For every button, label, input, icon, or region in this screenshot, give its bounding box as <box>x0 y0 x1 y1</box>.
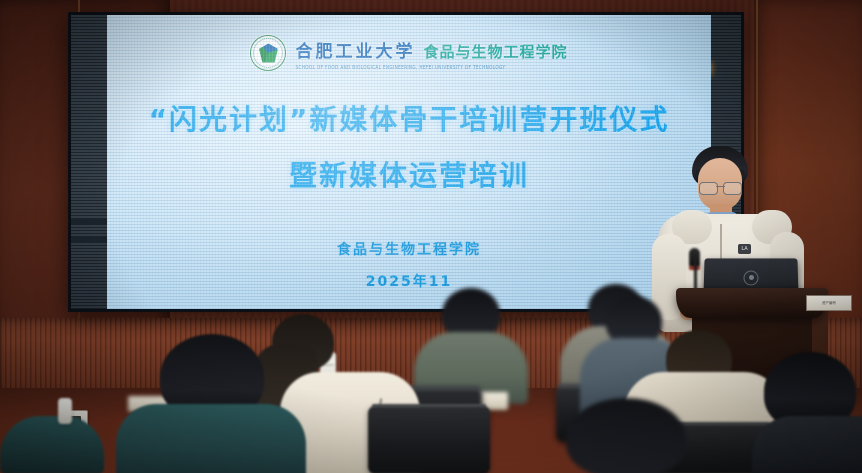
slide-title-line-2: 暨新媒体运营培训 <box>107 159 711 193</box>
school-name-cn: 食品与生物工程学院 <box>423 41 567 62</box>
attendee-far-left <box>0 398 110 473</box>
glasses-bridge <box>716 186 725 187</box>
chair-top-bar <box>372 404 486 408</box>
university-name-cn: 合肥工业大学 <box>295 37 415 62</box>
slide-organizer: 食品与生物工程学院 <box>107 239 711 259</box>
institution-name-en: SCHOOL OF FOOD AND BIOLOGICAL ENGINEERIN… <box>295 64 567 70</box>
attendee-front-left <box>116 334 312 473</box>
slide-logo-header: 合肥工业大学 食品与生物工程学院 SCHOOL OF FOOD AND BIOL… <box>107 29 711 77</box>
attendee-front-right <box>752 352 862 473</box>
attendee-torso <box>0 416 104 473</box>
led-wall-display[interactable]: 合肥工业大学 食品与生物工程学院 SCHOOL OF FOOD AND BIOL… <box>68 12 744 312</box>
jacket-badge: LA <box>738 244 751 254</box>
eyeglasses-icon <box>699 182 742 193</box>
attendee-head <box>566 398 686 473</box>
audience-chair <box>368 406 490 473</box>
bezel-seam <box>71 219 107 225</box>
university-crest-icon <box>250 35 286 71</box>
slide-text-body: “闪光计划”新媒体骨干培训营开班仪式 暨新媒体运营培训 食品与生物工程学院 20… <box>107 87 711 291</box>
logo-text-block: 合肥工业大学 食品与生物工程学院 SCHOOL OF FOOD AND BIOL… <box>295 37 567 69</box>
attendee-front-center <box>556 398 706 473</box>
logo-title-row: 合肥工业大学 食品与生物工程学院 <box>295 37 567 62</box>
desk-cup <box>58 398 72 424</box>
slide-surface: 合肥工业大学 食品与生物工程学院 SCHOOL OF FOOD AND BIOL… <box>107 15 711 309</box>
attendee-torso <box>752 416 862 473</box>
attendee-torso <box>116 404 306 473</box>
crest-ring <box>253 38 283 68</box>
slide-title-line-1: “闪光计划”新媒体骨干培训营开班仪式 <box>107 103 711 137</box>
bezel-seam <box>71 237 107 243</box>
display-left-bezel <box>71 15 107 309</box>
glasses-lens-left <box>699 182 718 195</box>
glasses-lens-right <box>723 182 742 195</box>
presentation-room-photo: 合肥工业大学 食品与生物工程学院 SCHOOL OF FOOD AND BIOL… <box>0 0 862 473</box>
asset-tag-label: 资产编号 <box>806 295 852 311</box>
laptop-logo-icon <box>743 270 758 285</box>
